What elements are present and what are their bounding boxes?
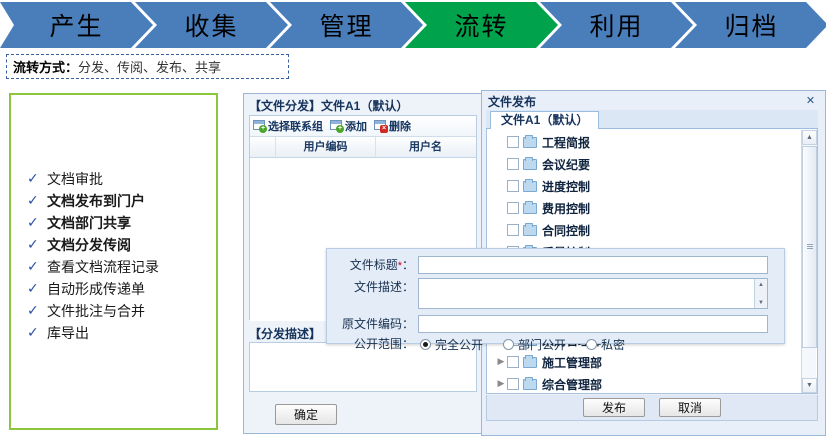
toolbar-label: 选择联系组 (268, 118, 323, 134)
scope-radio-option[interactable]: 部门公开 (503, 336, 566, 353)
publish-title: 文件发布 (488, 93, 536, 110)
file-desc-textarea[interactable]: ▲ ▼ (418, 278, 768, 309)
tree-node-label: 费用控制 (542, 200, 590, 217)
folder-icon (523, 379, 537, 390)
process-step-label: 流转 (454, 7, 508, 43)
expand-arrow-icon[interactable]: ▶ (495, 379, 507, 389)
scope-radio-label: 完全公开 (435, 336, 483, 353)
feature-item-label: 文档部门共享 (47, 212, 131, 234)
toolbar-label: 删除 (389, 118, 411, 134)
feature-item: ✓文档发布到门户 (27, 190, 217, 212)
radio-button[interactable] (420, 339, 431, 350)
tree-checkbox[interactable] (507, 378, 519, 390)
check-icon: ✓ (27, 256, 47, 278)
tree-node[interactable]: 费用控制 (487, 197, 793, 219)
scroll-down-icon[interactable]: ▼ (802, 378, 817, 393)
tree-node-label: 进度控制 (542, 178, 590, 195)
radio-button[interactable] (586, 339, 597, 350)
tree-checkbox[interactable] (507, 158, 519, 170)
process-step-4[interactable]: 流转 (405, 2, 558, 48)
tree-checkbox[interactable] (507, 224, 519, 236)
feature-list: ✓文档审批✓文档发布到门户✓文档部门共享✓文档分发传阅✓查看文档流程记录✓自动形… (27, 168, 217, 344)
flow-mode-label: 流转方式： (13, 57, 78, 76)
check-icon: ✓ (27, 190, 47, 212)
feature-item-label: 文档发布到门户 (47, 190, 145, 212)
scope-radio-label: 私密 (601, 336, 625, 353)
tree-checkbox[interactable] (507, 180, 519, 192)
file-title-colon: ： (402, 258, 414, 272)
feature-item-label: 自动形成传递单 (47, 278, 145, 300)
form-row-origcode: 原文件编码： (340, 315, 768, 333)
flow-mode-caption: 流转方式：分发、传阅、发布、共享 (6, 54, 289, 79)
scrollbar-thumb[interactable] (802, 146, 817, 348)
process-step-label: 管理 (319, 7, 373, 43)
toolbar-window-add[interactable]: +选择联系组 (253, 118, 323, 134)
process-step-label: 利用 (589, 7, 643, 43)
tree-node-label: 综合管理部 (542, 376, 602, 393)
form-row-title: 文件标题*： (340, 256, 768, 275)
expand-arrow-icon[interactable]: ▶ (495, 357, 507, 367)
cancel-button[interactable]: 取消 (659, 398, 721, 417)
window-add-icon: + (330, 120, 343, 132)
tree-node-label: 施工管理部 (542, 354, 602, 371)
feature-item: ✓查看文档流程记录 (27, 256, 217, 278)
tree-node[interactable]: ▶施工管理部 (487, 351, 793, 373)
tree-node-label: 合同控制 (542, 222, 590, 239)
feature-item-label: 文档审批 (47, 168, 103, 190)
scrollbar-grip (807, 244, 813, 250)
tree-checkbox[interactable] (507, 356, 519, 368)
file-title-label-text: 文件标题 (350, 258, 398, 272)
feature-card: ✓文档审批✓文档发布到门户✓文档部门共享✓文档分发传阅✓查看文档流程记录✓自动形… (9, 93, 218, 430)
orig-code-label: 原文件编码： (340, 315, 414, 333)
publish-tabstrip: 文件A1（默认） (486, 110, 818, 129)
folder-icon (523, 181, 537, 192)
distribution-grid-header: 用户编码用户名 (250, 137, 476, 158)
screenshot-root: 产生收集管理流转利用归档 流转方式：分发、传阅、发布、共享 ✓文档审批✓文档发布… (0, 0, 826, 436)
orig-code-input[interactable] (418, 315, 768, 333)
grid-column-header[interactable]: 用户编码 (276, 137, 376, 157)
distribution-title: 【文件分发】文件A1（默认） (249, 97, 408, 114)
check-icon: ✓ (27, 212, 47, 234)
check-icon: ✓ (27, 322, 47, 344)
confirm-button[interactable]: 确定 (275, 404, 337, 425)
toolbar-window-delete[interactable]: ×删除 (374, 118, 411, 134)
feature-item: ✓文档审批 (27, 168, 217, 190)
scroll-up-icon[interactable]: ▲ (802, 130, 817, 145)
scope-radio-option[interactable]: 私密 (586, 336, 625, 353)
feature-item: ✓库导出 (27, 322, 217, 344)
file-desc-label: 文件描述： (340, 278, 414, 296)
flow-mode-value: 分发、传阅、发布、共享 (78, 57, 221, 76)
folder-icon (523, 159, 537, 170)
grid-column-header[interactable]: 用户名 (376, 137, 475, 157)
process-step-3[interactable]: 管理 (270, 2, 423, 48)
tree-checkbox[interactable] (507, 202, 519, 214)
publish-button[interactable]: 发布 (583, 398, 645, 417)
form-row-desc: 文件描述： ▲ ▼ (340, 278, 768, 309)
distribution-button-bar: 确定 (249, 404, 477, 428)
feature-item-label: 文件批注与合并 (47, 300, 145, 322)
scope-radio-option[interactable]: 完全公开 (420, 336, 483, 353)
close-icon[interactable]: ✕ (804, 94, 817, 107)
distribution-toolbar: +选择联系组+添加×删除 (250, 116, 476, 137)
feature-item-label: 文档分发传阅 (47, 234, 131, 256)
feature-item: ✓文件批注与合并 (27, 300, 217, 322)
grid-column-header[interactable] (250, 137, 276, 157)
process-step-label: 归档 (724, 7, 778, 43)
tree-checkbox[interactable] (507, 136, 519, 148)
feature-item: ✓文档部门共享 (27, 212, 217, 234)
feature-item: ✓自动形成传递单 (27, 278, 217, 300)
file-title-input[interactable] (418, 256, 768, 274)
tree-node-label: 会议纪要 (542, 156, 590, 173)
folder-icon (523, 137, 537, 148)
publish-button-bar: 发布 取消 (486, 395, 818, 421)
process-step-1[interactable]: 产生 (0, 2, 153, 48)
tree-node[interactable]: 会议纪要 (487, 153, 793, 175)
check-icon: ✓ (27, 234, 47, 256)
textarea-scroll-down-icon[interactable]: ▼ (755, 297, 767, 308)
radio-button[interactable] (503, 339, 514, 350)
scope-radio-group: 完全公开部门公开私密 (420, 336, 625, 353)
check-icon: ✓ (27, 300, 47, 322)
feature-item-label: 查看文档流程记录 (47, 256, 159, 278)
form-row-scope: 公开范围： 完全公开部门公开私密 (340, 335, 625, 353)
process-step-2[interactable]: 收集 (135, 2, 288, 48)
process-step-label: 产生 (49, 7, 103, 43)
process-breadcrumb: 产生收集管理流转利用归档 (0, 2, 826, 48)
tree-node[interactable]: ▶综合管理部 (487, 373, 793, 394)
publish-form-dialog: 文件标题*： 文件描述： ▲ ▼ 原文件编码： 公开范围： 完全公开部门公开私密 (326, 248, 785, 344)
folder-icon (523, 203, 537, 214)
tab-file-a1[interactable]: 文件A1（默认） (490, 111, 599, 129)
tree-node[interactable]: 合同控制 (487, 219, 793, 241)
check-icon: ✓ (27, 168, 47, 190)
feature-item: ✓文档分发传阅 (27, 234, 217, 256)
scope-label: 公开范围： (340, 335, 414, 353)
folder-icon (523, 225, 537, 236)
toolbar-window-add[interactable]: +添加 (330, 118, 367, 134)
feature-item-label: 库导出 (47, 322, 89, 344)
process-step-6[interactable]: 归档 (675, 2, 826, 48)
window-add-icon: + (253, 120, 266, 132)
folder-icon (523, 357, 537, 368)
process-step-5[interactable]: 利用 (540, 2, 693, 48)
tree-node-label: 工程简报 (542, 134, 590, 151)
tree-node[interactable]: 进度控制 (487, 175, 793, 197)
check-icon: ✓ (27, 278, 47, 300)
file-title-label: 文件标题*： (340, 256, 414, 275)
process-step-label: 收集 (184, 7, 238, 43)
toolbar-label: 添加 (345, 118, 367, 134)
textarea-scroll-up-icon[interactable]: ▲ (755, 279, 767, 290)
textarea-scrollbar[interactable]: ▲ ▼ (754, 279, 767, 308)
window-delete-icon: × (374, 120, 387, 132)
tree-vertical-scrollbar[interactable]: ▲ ▼ (801, 130, 816, 393)
scope-radio-label: 部门公开 (518, 336, 566, 353)
tree-node[interactable]: 工程简报 (487, 131, 793, 153)
distribution-desc-title: 【分发描述】 (249, 325, 321, 342)
